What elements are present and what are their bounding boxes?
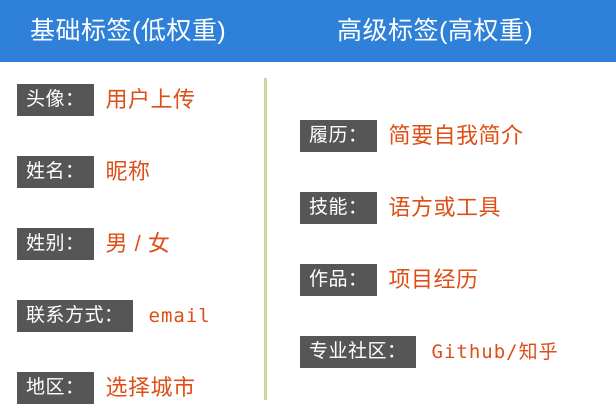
header-bar: 基础标签(低权重) 高级标签(高权重) [0, 0, 616, 62]
column-divider [264, 78, 267, 400]
header-title-basic-tags: 基础标签(低权重) [30, 14, 226, 48]
tag-value: 项目经历 [389, 264, 479, 296]
tag-row[interactable]: 履历：简要自我简介 [300, 120, 524, 152]
tag-value: 昵称 [106, 156, 151, 188]
tag-row[interactable]: 头像：用户上传 [17, 84, 196, 116]
tag-value: 语方或工具 [389, 192, 502, 224]
tag-row[interactable]: 作品：项目经历 [300, 264, 479, 296]
tag-label-chip: 头像： [17, 84, 94, 116]
tag-value: Github/知乎 [432, 336, 559, 368]
tag-row[interactable]: 地区：选择城市 [17, 372, 196, 404]
tag-row[interactable]: 联系方式：email [17, 300, 211, 332]
tag-label-chip: 作品： [300, 264, 377, 296]
tag-value: 男 / 女 [106, 228, 171, 260]
tag-value: 选择城市 [106, 372, 196, 404]
tag-label-chip: 姓别： [17, 228, 94, 260]
slide-canvas: 基础标签(低权重) 高级标签(高权重) 头像：用户上传姓名：昵称姓别：男 / 女… [0, 0, 616, 415]
tag-value: 用户上传 [106, 84, 196, 116]
tag-row[interactable]: 姓别：男 / 女 [17, 228, 170, 260]
tag-label-chip: 联系方式： [17, 300, 133, 332]
tag-row[interactable]: 姓名：昵称 [17, 156, 151, 188]
tag-label-chip: 姓名： [17, 156, 94, 188]
tag-label-chip: 地区： [17, 372, 94, 404]
tag-label-chip: 专业社区： [300, 336, 416, 368]
tag-label-chip: 履历： [300, 120, 377, 152]
tag-row[interactable]: 技能：语方或工具 [300, 192, 501, 224]
tag-value: 简要自我简介 [389, 120, 524, 152]
tag-row[interactable]: 专业社区：Github/知乎 [300, 336, 559, 368]
tag-value: email [149, 300, 211, 332]
header-title-advanced-tags: 高级标签(高权重) [337, 14, 533, 48]
tag-label-chip: 技能： [300, 192, 377, 224]
